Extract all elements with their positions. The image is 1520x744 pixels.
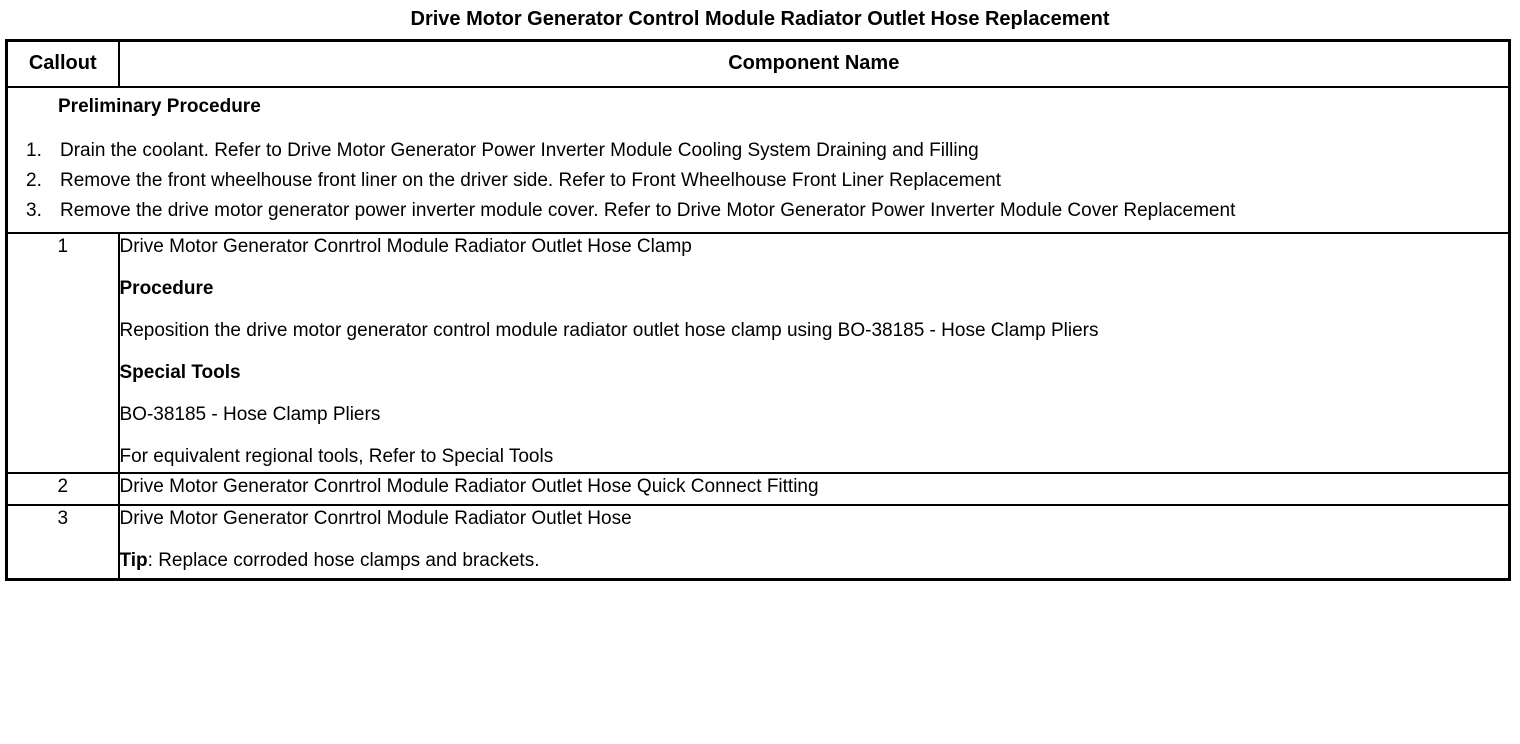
component-name-2: Drive Motor Generator Conrtrol Module Ra…: [120, 474, 1509, 504]
column-header-callout: Callout: [7, 41, 119, 88]
callout-number-1: 1: [7, 233, 119, 473]
special-tools-note-1: For equivalent regional tools, Refer to …: [120, 444, 1509, 472]
table-row: 2 Drive Motor Generator Conrtrol Module …: [7, 473, 1510, 505]
table-header-row: Callout Component Name: [7, 41, 1510, 88]
procedure-text-1: Reposition the drive motor generator con…: [120, 318, 1509, 360]
preliminary-steps-list: Drain the coolant. Refer to Drive Motor …: [8, 136, 1508, 232]
column-header-component-name: Component Name: [119, 41, 1510, 88]
page-title: Drive Motor Generator Control Module Rad…: [0, 0, 1520, 39]
special-tools-heading-1: Special Tools: [120, 360, 1509, 402]
preliminary-procedure-row: Preliminary Procedure Drain the coolant.…: [7, 87, 1510, 233]
tip-label: Tip: [120, 550, 148, 571]
table-row: 3 Drive Motor Generator Conrtrol Module …: [7, 505, 1510, 580]
component-name-3: Drive Motor Generator Conrtrol Module Ra…: [120, 506, 1509, 548]
special-tool-item-1: BO-38185 - Hose Clamp Pliers: [120, 402, 1509, 444]
preliminary-step-2: Remove the front wheelhouse front liner …: [8, 166, 1508, 196]
preliminary-step-1: Drain the coolant. Refer to Drive Motor …: [8, 136, 1508, 166]
table-row: 1 Drive Motor Generator Conrtrol Module …: [7, 233, 1510, 473]
callout-number-3: 3: [7, 505, 119, 580]
tip-text: : Replace corroded hose clamps and brack…: [148, 550, 540, 571]
component-detail-cell-2: Drive Motor Generator Conrtrol Module Ra…: [119, 473, 1510, 505]
component-name-1: Drive Motor Generator Conrtrol Module Ra…: [120, 234, 1509, 276]
component-callout-table: Callout Component Name Preliminary Proce…: [5, 39, 1511, 581]
preliminary-step-3: Remove the drive motor generator power i…: [8, 196, 1508, 226]
preliminary-procedure-cell: Preliminary Procedure Drain the coolant.…: [7, 87, 1510, 233]
procedure-heading-1: Procedure: [120, 276, 1509, 318]
component-detail-cell-1: Drive Motor Generator Conrtrol Module Ra…: [119, 233, 1510, 473]
service-procedure-page: Drive Motor Generator Control Module Rad…: [0, 0, 1520, 744]
preliminary-procedure-heading: Preliminary Procedure: [8, 88, 1508, 136]
tip-line-3: Tip: Replace corroded hose clamps and br…: [120, 548, 1509, 578]
component-detail-cell-3: Drive Motor Generator Conrtrol Module Ra…: [119, 505, 1510, 580]
callout-number-2: 2: [7, 473, 119, 505]
